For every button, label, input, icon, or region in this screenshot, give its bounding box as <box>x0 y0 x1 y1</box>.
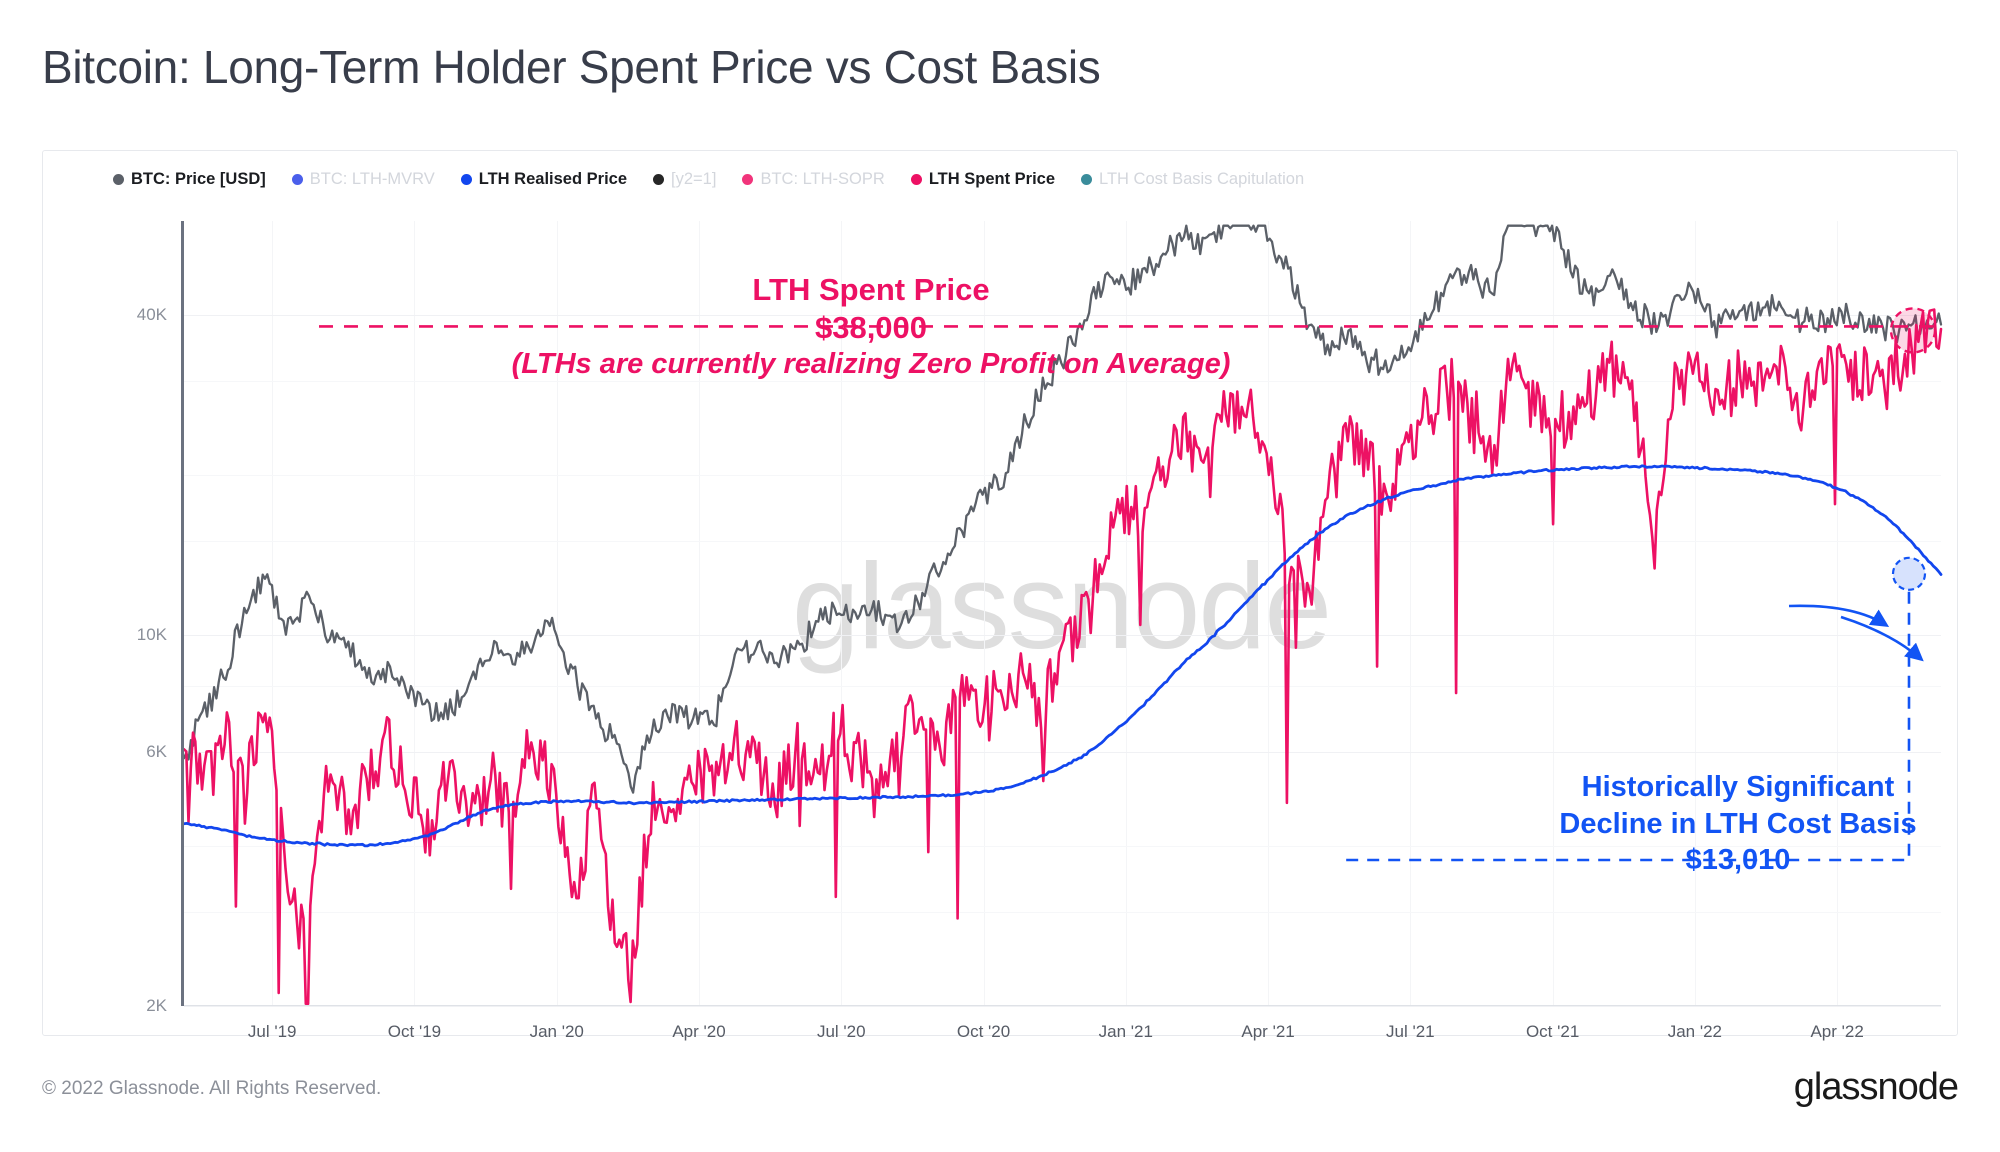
chart-legend: BTC: Price [USD]BTC: LTH-MVRVLTH Realise… <box>113 171 1304 188</box>
legend-item-label: BTC: LTH-SOPR <box>760 171 884 188</box>
gridline-horizontal <box>184 1006 1941 1007</box>
legend-item-label: LTH Realised Price <box>479 171 627 188</box>
page-title: Bitcoin: Long-Term Holder Spent Price vs… <box>42 40 1100 94</box>
legend-dot-icon <box>461 174 472 185</box>
legend-item-label: [y2=1] <box>671 171 716 188</box>
plot-area: glassnode 40K10K6K2K Jul '19Oct '19Jan '… <box>181 221 1941 1006</box>
x-axis-tick-label: Apr '20 <box>672 1022 725 1042</box>
legend-item-6[interactable]: LTH Cost Basis Capitulation <box>1081 171 1304 188</box>
legend-item-2[interactable]: LTH Realised Price <box>461 171 627 188</box>
legend-item-label: LTH Cost Basis Capitulation <box>1099 171 1304 188</box>
legend-item-4[interactable]: BTC: LTH-SOPR <box>742 171 884 188</box>
legend-item-1[interactable]: BTC: LTH-MVRV <box>292 171 435 188</box>
annotation-overlays <box>319 308 1938 860</box>
x-axis-tick-label: Jan '21 <box>1099 1022 1153 1042</box>
x-axis-tick-label: Jul '20 <box>817 1022 866 1042</box>
legend-item-0[interactable]: BTC: Price [USD] <box>113 171 266 188</box>
x-axis-tick-label: Jan '20 <box>530 1022 584 1042</box>
x-axis-tick-label: Oct '19 <box>388 1022 441 1042</box>
legend-dot-icon <box>1081 174 1092 185</box>
chart-page: Bitcoin: Long-Term Holder Spent Price vs… <box>0 0 2000 1152</box>
x-axis-tick-label: Oct '20 <box>957 1022 1010 1042</box>
y-axis-tick-label: 2K <box>146 996 167 1016</box>
x-axis-tick-label: Jul '19 <box>248 1022 297 1042</box>
x-axis-tick-label: Jul '21 <box>1386 1022 1435 1042</box>
series-svg <box>181 221 1941 1006</box>
legend-item-5[interactable]: LTH Spent Price <box>911 171 1055 188</box>
y-axis-tick-label: 10K <box>137 625 167 645</box>
x-axis-tick-label: Jan '22 <box>1668 1022 1722 1042</box>
highlight-circle-lth-realised-price <box>1893 558 1925 590</box>
chart-card: BTC: Price [USD]BTC: LTH-MVRVLTH Realise… <box>42 150 1958 1036</box>
legend-dot-icon <box>113 174 124 185</box>
cost-basis-bracket <box>1345 592 1909 860</box>
plot-inner: glassnode 40K10K6K2K Jul '19Oct '19Jan '… <box>181 221 1941 1006</box>
x-axis-tick-label: Apr '22 <box>1810 1022 1863 1042</box>
series-line-lth-spent-price <box>184 310 1941 1004</box>
legend-dot-icon <box>911 174 922 185</box>
legend-item-3[interactable]: [y2=1] <box>653 171 716 188</box>
decline-arrow-1 <box>1789 606 1886 625</box>
series-lines <box>184 226 1941 1004</box>
y-axis-tick-label: 40K <box>137 305 167 325</box>
legend-item-label: BTC: Price [USD] <box>131 171 266 188</box>
x-axis-tick-label: Apr '21 <box>1241 1022 1294 1042</box>
footer-copyright: © 2022 Glassnode. All Rights Reserved. <box>42 1078 381 1100</box>
footer-logo: glassnode <box>1794 1066 1958 1109</box>
legend-item-label: BTC: LTH-MVRV <box>310 171 435 188</box>
legend-item-label: LTH Spent Price <box>929 171 1055 188</box>
legend-dot-icon <box>742 174 753 185</box>
x-axis-tick-label: Oct '21 <box>1526 1022 1579 1042</box>
y-axis-tick-label: 6K <box>146 742 167 762</box>
y-axis-line <box>181 221 184 1006</box>
x-axis-line <box>184 1005 1941 1006</box>
legend-dot-icon <box>653 174 664 185</box>
highlight-circle-lth-spent-price <box>1891 308 1935 352</box>
legend-dot-icon <box>292 174 303 185</box>
series-line-btc-price-usd <box>184 226 1941 793</box>
